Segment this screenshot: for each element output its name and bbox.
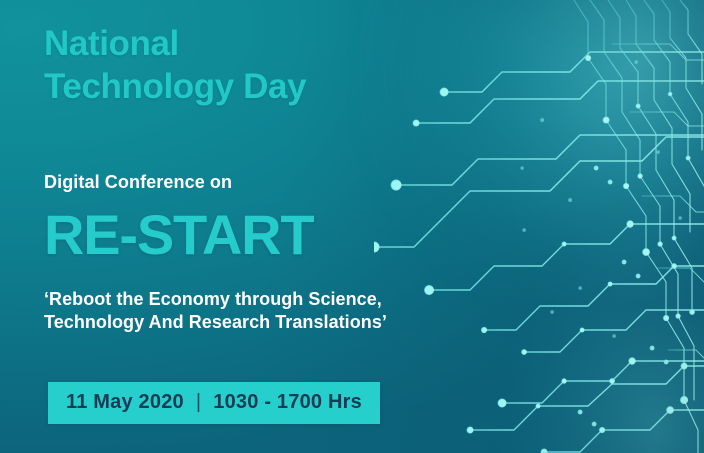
date-time-badge: 11 May 2020 | 1030 - 1700 Hrs <box>48 382 380 424</box>
event-time: 1030 - 1700 Hrs <box>213 391 362 414</box>
poster-content: National Technology Day Digital Conferen… <box>44 0 514 453</box>
event-poster: National Technology Day Digital Conferen… <box>0 0 704 453</box>
page-title: National Technology Day <box>44 22 306 108</box>
event-headline: RE-START <box>44 203 313 267</box>
badge-separator: | <box>194 391 203 414</box>
event-tagline: ‘Reboot the Economy through Science, Tec… <box>44 288 387 334</box>
event-date: 11 May 2020 <box>66 391 184 414</box>
event-kicker: Digital Conference on <box>44 172 232 193</box>
